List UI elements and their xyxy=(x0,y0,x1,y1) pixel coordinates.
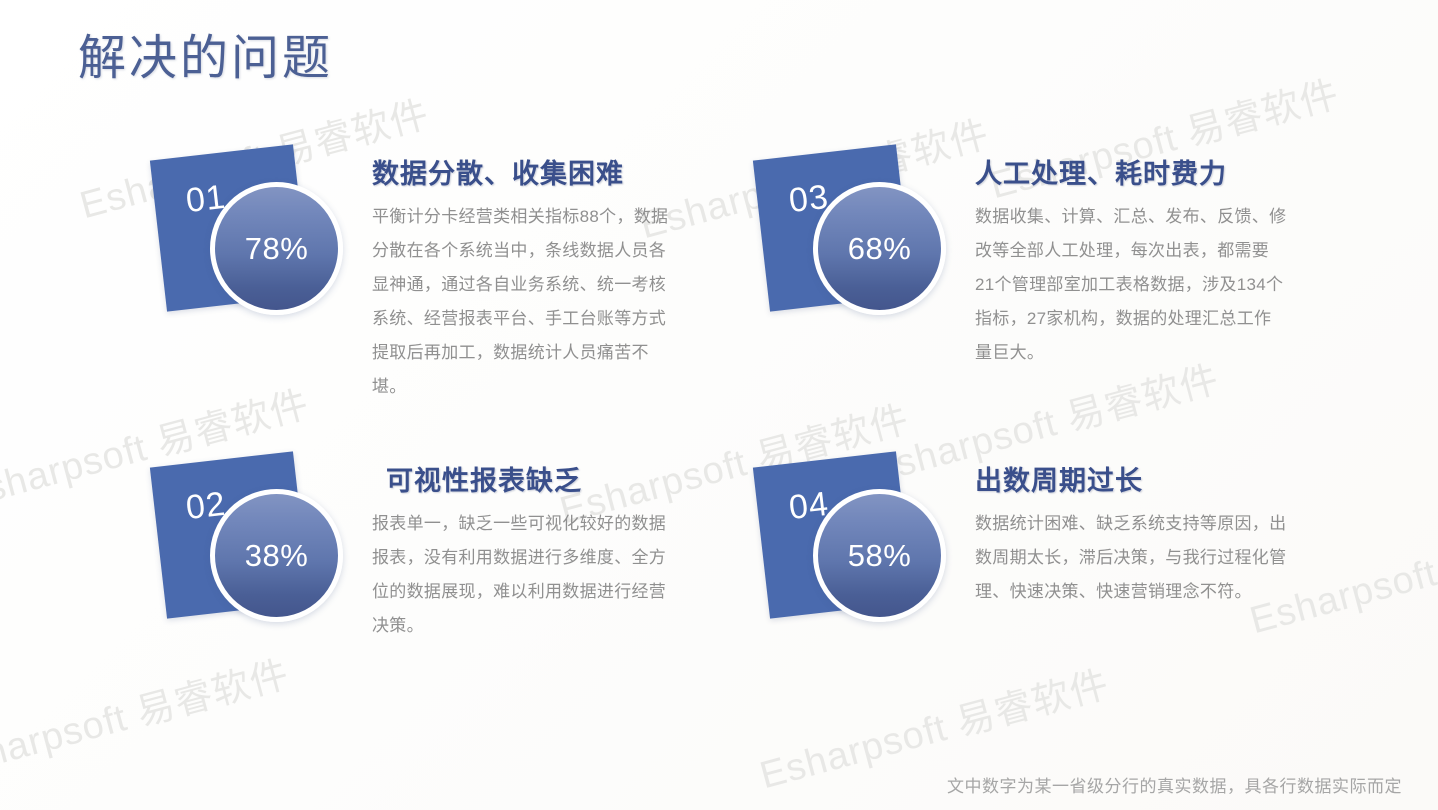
stat-graphic: 01 78% xyxy=(150,140,372,340)
footer-note: 文中数字为某一省级分行的真实数据，具各行数据实际而定 xyxy=(947,772,1402,797)
content-blocks: 01 78% 数据分散、收集困难 平衡计分卡经营类相关指标88个，数据分散在各个… xyxy=(0,0,1438,810)
block-number: 02 xyxy=(184,485,228,528)
block-body: 数据收集、计算、汇总、发布、反馈、修改等全部人工处理，每次出表，都需要21个管理… xyxy=(975,200,1287,370)
block-text: 可视性报表缺乏 报表单一，缺乏一些可视化较好的数据报表，没有利用数据进行多维度、… xyxy=(372,447,710,643)
problem-block-01: 01 78% 数据分散、收集困难 平衡计分卡经营类相关指标88个，数据分散在各个… xyxy=(150,140,710,404)
percent-circle: 68% xyxy=(813,182,946,315)
block-body: 平衡计分卡经营类相关指标88个，数据分散在各个系统当中，条线数据人员各显神通，通… xyxy=(372,200,672,404)
block-number: 03 xyxy=(787,178,831,221)
problem-block-02: 02 38% 可视性报表缺乏 报表单一，缺乏一些可视化较好的数据报表，没有利用数… xyxy=(150,447,710,647)
problem-block-03: 03 68% 人工处理、耗时费力 数据收集、计算、汇总、发布、反馈、修改等全部人… xyxy=(753,140,1323,370)
block-body: 数据统计困难、缺乏系统支持等原因，出数周期太长，滞后决策，与我行过程化管理、快速… xyxy=(975,507,1287,609)
block-number: 01 xyxy=(184,178,228,221)
percent-circle: 78% xyxy=(210,182,343,315)
block-heading: 人工处理、耗时费力 xyxy=(975,158,1323,190)
slide-canvas: Esharpsoft 易睿软件 Esharpsoft 易睿软件 Esharpso… xyxy=(0,0,1438,810)
block-heading: 可视性报表缺乏 xyxy=(372,465,710,497)
percent-value: 58% xyxy=(848,538,912,574)
block-heading: 出数周期过长 xyxy=(975,465,1323,497)
percent-value: 78% xyxy=(245,231,309,267)
percent-circle: 58% xyxy=(813,489,946,622)
block-body: 报表单一，缺乏一些可视化较好的数据报表，没有利用数据进行多维度、全方位的数据展现… xyxy=(372,507,672,643)
percent-value: 38% xyxy=(245,538,309,574)
stat-graphic: 02 38% xyxy=(150,447,372,647)
block-text: 人工处理、耗时费力 数据收集、计算、汇总、发布、反馈、修改等全部人工处理，每次出… xyxy=(975,140,1323,370)
block-text: 数据分散、收集困难 平衡计分卡经营类相关指标88个，数据分散在各个系统当中，条线… xyxy=(372,140,710,404)
block-heading: 数据分散、收集困难 xyxy=(372,158,710,190)
problem-block-04: 04 58% 出数周期过长 数据统计困难、缺乏系统支持等原因，出数周期太长，滞后… xyxy=(753,447,1323,647)
percent-value: 68% xyxy=(848,231,912,267)
stat-graphic: 04 58% xyxy=(753,447,975,647)
block-text: 出数周期过长 数据统计困难、缺乏系统支持等原因，出数周期太长，滞后决策，与我行过… xyxy=(975,447,1323,609)
percent-circle: 38% xyxy=(210,489,343,622)
block-number: 04 xyxy=(787,485,831,528)
page-title: 解决的问题 xyxy=(78,18,333,88)
stat-graphic: 03 68% xyxy=(753,140,975,340)
